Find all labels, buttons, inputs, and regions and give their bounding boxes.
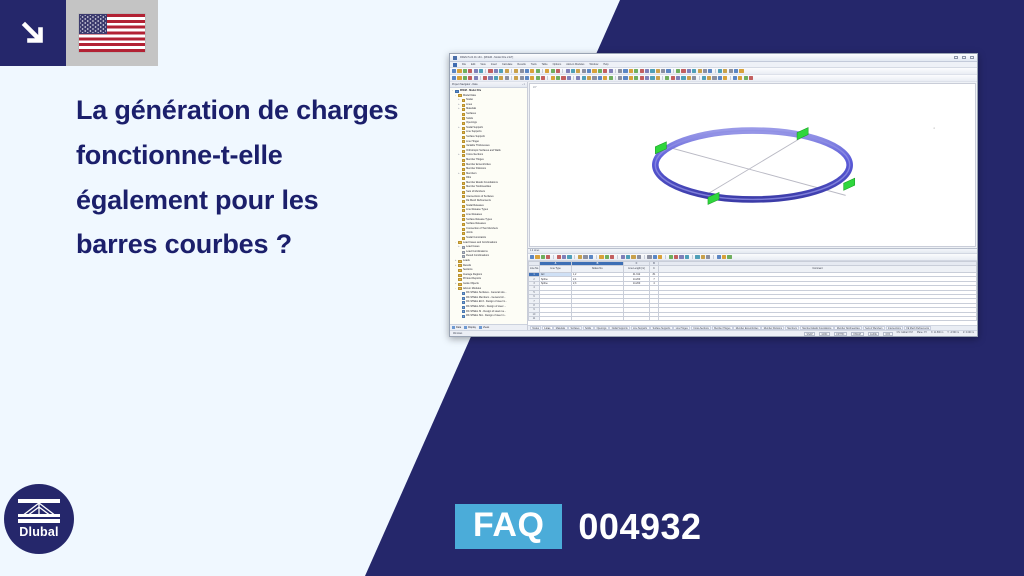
toolbar-icon[interactable]: [626, 255, 630, 259]
toolbar-icon[interactable]: [618, 76, 622, 80]
tree-item-icon: [462, 113, 465, 116]
toolbar-icon[interactable]: [718, 76, 722, 80]
tree-item-icon: [462, 237, 465, 240]
tree-expander-icon[interactable]: +: [457, 107, 460, 112]
toolbar-icon[interactable]: [695, 255, 699, 259]
lines-table[interactable]: ABCD Line No.Line TypeNodes No.Line Leng…: [528, 261, 977, 321]
toolbar-icon[interactable]: [514, 69, 518, 73]
toolbar-icon[interactable]: [701, 255, 705, 259]
toolbar-icon[interactable]: [621, 255, 625, 259]
tree-item-icon: [462, 315, 465, 318]
toolbar-icon[interactable]: [733, 76, 737, 80]
toolbar-separator: [511, 69, 512, 74]
toolbar-icon[interactable]: [488, 76, 492, 80]
main-toolbar[interactable]: [450, 68, 977, 75]
toolbar-icon[interactable]: [687, 76, 691, 80]
status-chip-grid[interactable]: GRID: [819, 332, 830, 336]
tree-item-icon: [458, 260, 461, 263]
faq-footer: FAQ 004932: [455, 504, 702, 549]
model-canvas[interactable]: z/Y ⌖: [529, 83, 976, 247]
toolbar-icon[interactable]: [582, 69, 586, 73]
tree-item-icon: [462, 177, 465, 180]
row-header-cell[interactable]: 11: [529, 316, 540, 320]
navigator-tab-data[interactable]: Data: [452, 326, 461, 329]
status-right: SNAPGRIDORTHOOSNAPGLINEDXFCS: Global XYZ…: [804, 332, 974, 336]
toolbar-icon[interactable]: [474, 69, 478, 73]
tree-item-icon: [462, 306, 465, 309]
column-header[interactable]: Line Length [m]: [624, 266, 650, 273]
status-text: Y: -0.500 m: [947, 332, 959, 336]
tree-expander-icon[interactable]: +: [457, 172, 460, 177]
tree-item-icon: [462, 127, 465, 130]
tree-item-icon: [462, 186, 465, 189]
toolbar-icon[interactable]: [681, 69, 685, 73]
toolbar-icon[interactable]: [727, 255, 731, 259]
status-chip-gline[interactable]: GLINE: [868, 332, 880, 336]
toolbar-icon[interactable]: [452, 69, 456, 73]
maximize-button[interactable]: [962, 56, 966, 59]
toolbar-icon[interactable]: [623, 76, 627, 80]
toolbar-icon[interactable]: [576, 69, 580, 73]
tree-item-icon: [462, 209, 465, 212]
toolbar-icon[interactable]: [499, 69, 503, 73]
minimize-button[interactable]: [954, 56, 958, 59]
toolbar-icon[interactable]: [603, 76, 607, 80]
menu-item-addon-modules[interactable]: Add-on Modules: [566, 63, 584, 66]
tree-item-icon: [462, 117, 465, 120]
toolbar-icon[interactable]: [557, 255, 561, 259]
tree-item-icon: [462, 136, 465, 139]
toolbar-icon[interactable]: [536, 76, 540, 80]
project-navigator[interactable]: Project Navigator - Data ▫ × -RFEM - Mod…: [450, 82, 528, 330]
toolbar-icon[interactable]: [623, 69, 627, 73]
toolbar-icon[interactable]: [598, 76, 602, 80]
toolbar-icon[interactable]: [674, 255, 678, 259]
toolbar-separator: [617, 255, 618, 260]
toolbar-icon[interactable]: [687, 69, 691, 73]
menu-item-window[interactable]: Window: [589, 63, 598, 66]
tree-item-icon: [462, 172, 465, 175]
toolbar-icon[interactable]: [631, 255, 635, 259]
toolbar-icon[interactable]: [676, 76, 680, 80]
top-left-badges: [0, 0, 158, 66]
arrow-down-right-icon: [0, 0, 66, 66]
table-toolbar[interactable]: [528, 254, 977, 261]
toolbar-icon[interactable]: [647, 255, 651, 259]
tree-item-icon: [462, 159, 465, 162]
toolbar-icon[interactable]: [629, 76, 633, 80]
tree-expander-icon[interactable]: -: [454, 287, 457, 292]
tree-item-icon: [462, 200, 465, 203]
tree-item-label: RF-STEEL SIA - Design of steel m...: [466, 314, 506, 319]
toolbar-separator: [644, 255, 645, 260]
toolbar-icon[interactable]: [645, 69, 649, 73]
toolbar-icon[interactable]: [525, 76, 529, 80]
toolbar-icon[interactable]: [468, 69, 472, 73]
tree-item-icon: [462, 255, 465, 258]
toolbar-icon[interactable]: [703, 69, 707, 73]
tree-item-icon: [462, 168, 465, 171]
toolbar-separator: [562, 69, 563, 74]
toolbar-icon[interactable]: [592, 69, 596, 73]
toolbar-icon[interactable]: [479, 69, 483, 73]
tree-item-icon: [462, 205, 465, 208]
menu-item-table[interactable]: Table: [542, 63, 548, 66]
tree-item-icon: [462, 195, 465, 198]
toolbar-icon[interactable]: [483, 76, 487, 80]
tree-item-icon: [462, 104, 465, 107]
toolbar-icon[interactable]: [702, 76, 706, 80]
toolbar-icon[interactable]: [592, 76, 596, 80]
toolbar-icon[interactable]: [589, 255, 593, 259]
cell-comment[interactable]: [659, 316, 977, 320]
curved-member-ring-model: [530, 84, 975, 246]
toolbar-separator: [480, 76, 481, 81]
column-header[interactable]: Comment: [659, 266, 977, 273]
status-chip-snap[interactable]: SNAP: [804, 332, 815, 336]
toolbar-icon[interactable]: [650, 69, 654, 73]
toolbar-icon[interactable]: [520, 69, 524, 73]
toolbar-icon[interactable]: [666, 69, 670, 73]
logo-text: Dlubal: [19, 525, 58, 539]
close-button[interactable]: [970, 56, 974, 59]
page-title: La génération de charges fonctionne-t-el…: [76, 88, 406, 267]
tree-item-icon: [462, 223, 465, 226]
toolbar-icon[interactable]: [567, 255, 571, 259]
toolbar-icon[interactable]: [671, 76, 675, 80]
toolbar-separator: [547, 76, 548, 81]
toolbar-icon[interactable]: [576, 76, 580, 80]
toolbar-icon[interactable]: [609, 69, 613, 73]
toolbar-icon[interactable]: [551, 76, 555, 80]
toolbar-icon[interactable]: [587, 76, 591, 80]
toolbar-icon[interactable]: [457, 69, 461, 73]
toolbar-icon[interactable]: [640, 76, 644, 80]
toolbar-icon[interactable]: [545, 69, 549, 73]
tree-item-icon: [462, 182, 465, 185]
column-header[interactable]: C: [650, 266, 659, 273]
toolbar-icon[interactable]: [567, 76, 571, 80]
toolbar-icon[interactable]: [722, 255, 726, 259]
toolbar-icon[interactable]: [640, 69, 644, 73]
toolbar-icon[interactable]: [723, 69, 727, 73]
faq-number: 004932: [578, 506, 701, 548]
work-area: Project Navigator - Data ▫ × -RFEM - Mod…: [450, 82, 977, 330]
menu-item-help[interactable]: Help: [603, 63, 608, 66]
tree-item-icon: [462, 108, 465, 111]
toolbar-icon[interactable]: [494, 69, 498, 73]
tree-item-icon: [462, 232, 465, 235]
toolbar-icon[interactable]: [685, 255, 689, 259]
cell-line-type[interactable]: [540, 316, 572, 320]
toolbar-icon[interactable]: [583, 255, 587, 259]
tree-item[interactable]: RF-STEEL SIA - Design of steel m...: [451, 314, 527, 319]
tree-item-icon: [458, 264, 461, 267]
model-tree[interactable]: -RFEM - Model File-Model Data+Nodes+Line…: [450, 88, 527, 324]
window-title: RFEM 5.24.01 x64 - [RFEM - Model File 2.…: [460, 56, 513, 59]
toolbar-separator: [730, 76, 731, 81]
column-header-row: Line No.Line TypeNodes No.Line Length [m…: [529, 266, 977, 273]
status-text: CS: Global XYZ: [897, 332, 913, 336]
toolbar-separator: [662, 76, 663, 81]
toolbar-icon[interactable]: [561, 76, 565, 80]
toolbar-icon[interactable]: [708, 69, 712, 73]
faq-badge: FAQ: [455, 504, 562, 549]
tree-item-icon: [458, 278, 461, 281]
status-left: Windows: [453, 333, 462, 335]
tree-expander-icon[interactable]: +: [457, 153, 460, 158]
menu-app-icon: [453, 63, 457, 67]
column-header[interactable]: Line Type: [540, 266, 572, 273]
toolbar-icon[interactable]: [634, 76, 638, 80]
toolbar-icon[interactable]: [541, 76, 545, 80]
window-titlebar: RFEM 5.24.01 x64 - [RFEM - Model File 2.…: [450, 54, 977, 62]
tree-item-icon: [458, 94, 461, 97]
toolbar-icon[interactable]: [463, 69, 467, 73]
tree-item-icon: [458, 287, 461, 290]
toolbar-icon[interactable]: [658, 255, 662, 259]
menu-item-calculate[interactable]: Calculate: [502, 63, 512, 66]
toolbar-icon[interactable]: [457, 76, 461, 80]
toolbar-icon[interactable]: [610, 255, 614, 259]
toolbar-icon[interactable]: [556, 69, 560, 73]
mouse-cursor-icon: ⌖: [933, 126, 935, 130]
tree-item-icon: [458, 283, 461, 286]
toolbar-icon[interactable]: [665, 76, 669, 80]
toolbar-icon[interactable]: [618, 69, 622, 73]
navigator-title: Project Navigator - Data: [452, 83, 478, 86]
tree-expander-icon[interactable]: +: [457, 126, 460, 131]
tree-item-icon: [462, 310, 465, 313]
tree-expander-icon[interactable]: +: [454, 264, 457, 269]
toolbar-icon[interactable]: [536, 69, 540, 73]
status-chip-ortho[interactable]: ORTHO: [834, 332, 847, 336]
tree-item-icon: [462, 145, 465, 148]
toolbar-icon[interactable]: [525, 69, 529, 73]
tree-item-icon: [462, 150, 465, 153]
toolbar-icon[interactable]: [706, 255, 710, 259]
status-text: X: 11.500 m: [931, 332, 943, 336]
tree-item-icon: [462, 251, 465, 254]
toolbar-icon[interactable]: [571, 69, 575, 73]
tree-item-icon: [462, 218, 465, 221]
toolbar-icon[interactable]: [505, 69, 509, 73]
toolbar-icon[interactable]: [562, 255, 566, 259]
toolbar-icon[interactable]: [603, 69, 607, 73]
tree-item-icon: [455, 90, 458, 93]
toolbar-icon[interactable]: [692, 76, 696, 80]
tree-item-icon: [462, 246, 465, 249]
toolbar-icon[interactable]: [474, 76, 478, 80]
menu-item-file[interactable]: File: [462, 63, 466, 66]
dlubal-logo: Dlubal: [4, 484, 74, 554]
toolbar-separator: [715, 69, 716, 74]
toolbar-separator: [596, 255, 597, 260]
status-text: Z: 0.000 m: [963, 332, 974, 336]
app-icon: [453, 56, 457, 60]
toolbar-icon[interactable]: [676, 69, 680, 73]
toolbar-icon[interactable]: [717, 255, 721, 259]
navigator-window-buttons[interactable]: ▫ ×: [522, 83, 525, 86]
toolbar-icon[interactable]: [738, 76, 742, 80]
toolbar-icon[interactable]: [505, 76, 509, 80]
toolbar-icon[interactable]: [463, 76, 467, 80]
toolbar-separator: [713, 255, 714, 260]
tree-item-icon: [462, 154, 465, 157]
tree-item-icon: [458, 274, 461, 277]
toolbar-separator: [485, 69, 486, 74]
toolbar-icon[interactable]: [587, 69, 591, 73]
toolbar-icon[interactable]: [530, 255, 534, 259]
toolbar-icon[interactable]: [566, 69, 570, 73]
toolbar-icon[interactable]: [582, 76, 586, 80]
column-header[interactable]: Line No.: [529, 266, 540, 273]
axis-indicator: z/Y: [533, 86, 537, 89]
table-row[interactable]: 11: [529, 316, 977, 320]
toolbar-separator: [542, 69, 543, 74]
toolbar-icon[interactable]: [645, 76, 649, 80]
toolbar-icon[interactable]: [546, 255, 550, 259]
menu-item-view[interactable]: View: [480, 63, 485, 66]
toolbar-icon[interactable]: [739, 69, 743, 73]
tree-item-icon: [462, 131, 465, 134]
toolbar-icon[interactable]: [551, 69, 555, 73]
toolbar-icon[interactable]: [653, 255, 657, 259]
toolbar-icon[interactable]: [744, 76, 748, 80]
tree-item-icon: [462, 140, 465, 143]
toolbar-icon[interactable]: [598, 69, 602, 73]
data-grid[interactable]: ABCD Line No.Line TypeNodes No.Line Leng…: [528, 261, 977, 325]
toolbar-icon[interactable]: [718, 69, 722, 73]
toolbar-icon[interactable]: [605, 255, 609, 259]
toolbar-icon[interactable]: [692, 69, 696, 73]
tree-item-icon: [462, 301, 465, 304]
toolbar-icon[interactable]: [707, 76, 711, 80]
status-chip-dxf[interactable]: DXF: [883, 332, 892, 336]
toolbar-icon[interactable]: [656, 69, 660, 73]
toolbar-icon[interactable]: [514, 76, 518, 80]
status-text: Plane: XY: [917, 332, 927, 336]
toolbar-icon[interactable]: [729, 69, 733, 73]
toolbar-icon[interactable]: [541, 255, 545, 259]
toolbar-icon[interactable]: [650, 76, 654, 80]
toolbar-icon[interactable]: [488, 69, 492, 73]
toolbar-separator: [673, 69, 674, 74]
column-header[interactable]: Nodes No.: [572, 266, 624, 273]
tree-item-icon: [462, 163, 465, 166]
toolbar-separator: [699, 76, 700, 81]
truss-bridge-icon: [18, 499, 60, 523]
toolbar-icon[interactable]: [468, 76, 472, 80]
cell-d[interactable]: [650, 316, 659, 320]
table-panel[interactable]: 1.2 Lines ABCD Line No.Line TypeNodes No…: [528, 248, 977, 330]
toolbar-icon[interactable]: [494, 76, 498, 80]
cell-nodes-no[interactable]: [572, 316, 624, 320]
toolbar-icon[interactable]: [535, 255, 539, 259]
toolbar-separator: [665, 255, 666, 260]
tree-item-icon: [462, 228, 465, 231]
toolbar-icon[interactable]: [634, 69, 638, 73]
toolbar-icon[interactable]: [530, 76, 534, 80]
toolbar-icon[interactable]: [609, 76, 613, 80]
us-flag-icon: [66, 0, 158, 66]
toolbar-icon[interactable]: [556, 76, 560, 80]
menu-item-tools[interactable]: Tools: [531, 63, 537, 66]
toolbar-icon[interactable]: [679, 255, 683, 259]
tree-item-icon: [458, 241, 461, 244]
toolbar-icon[interactable]: [749, 76, 753, 80]
toolbar-icon[interactable]: [698, 69, 702, 73]
viewport[interactable]: z/Y ⌖: [528, 82, 977, 330]
toolbar-separator: [553, 255, 554, 260]
toolbar-separator: [615, 76, 616, 81]
tree-item-icon: [458, 269, 461, 272]
toolbar-icon[interactable]: [734, 69, 738, 73]
cell-line-length[interactable]: [624, 316, 650, 320]
secondary-toolbar[interactable]: [450, 75, 977, 82]
navigator-tab-views[interactable]: Views: [479, 326, 489, 329]
toolbar-icon[interactable]: [637, 255, 641, 259]
toolbar-icon[interactable]: [712, 76, 716, 80]
toolbar-icon[interactable]: [499, 76, 503, 80]
toolbar-icon[interactable]: [599, 255, 603, 259]
toolbar-icon[interactable]: [452, 76, 456, 80]
toolbar-icon[interactable]: [530, 69, 534, 73]
status-bar: Windows SNAPGRIDORTHOOSNAPGLINEDXFCS: Gl…: [450, 330, 977, 336]
toolbar-separator: [511, 76, 512, 81]
status-chip-osnap[interactable]: OSNAP: [851, 332, 864, 336]
toolbar-icon[interactable]: [656, 76, 660, 80]
menu-item-results[interactable]: Results: [517, 63, 525, 66]
menu-item-insert[interactable]: Insert: [491, 63, 497, 66]
tree-item-icon: [462, 122, 465, 125]
toolbar-icon[interactable]: [681, 76, 685, 80]
navigator-tab-display[interactable]: Display: [464, 326, 476, 329]
toolbar-icon[interactable]: [723, 76, 727, 80]
rfem-application-window[interactable]: RFEM 5.24.01 x64 - [RFEM - Model File 2.…: [449, 53, 978, 337]
tree-item-icon: [462, 191, 465, 194]
menu-item-edit[interactable]: Edit: [471, 63, 475, 66]
tree-item-icon: [462, 99, 465, 102]
toolbar-separator: [573, 76, 574, 81]
toolbar-icon[interactable]: [669, 255, 673, 259]
toolbar-icon[interactable]: [578, 255, 582, 259]
menu-item-options[interactable]: Options: [553, 63, 562, 66]
toolbar-icon[interactable]: [661, 69, 665, 73]
tree-item-icon: [462, 297, 465, 300]
toolbar-icon[interactable]: [520, 76, 524, 80]
toolbar-separator: [692, 255, 693, 260]
tree-expander-icon[interactable]: +: [457, 245, 460, 250]
toolbar-separator: [574, 255, 575, 260]
table-body[interactable]: 1Arc1,241.312#12Spline2,414.20073Spline2…: [529, 273, 977, 321]
tree-item-icon: [462, 292, 465, 295]
toolbar-separator: [615, 69, 616, 74]
window-controls[interactable]: [954, 56, 974, 59]
tree-item-icon: [462, 214, 465, 217]
toolbar-icon[interactable]: [629, 69, 633, 73]
